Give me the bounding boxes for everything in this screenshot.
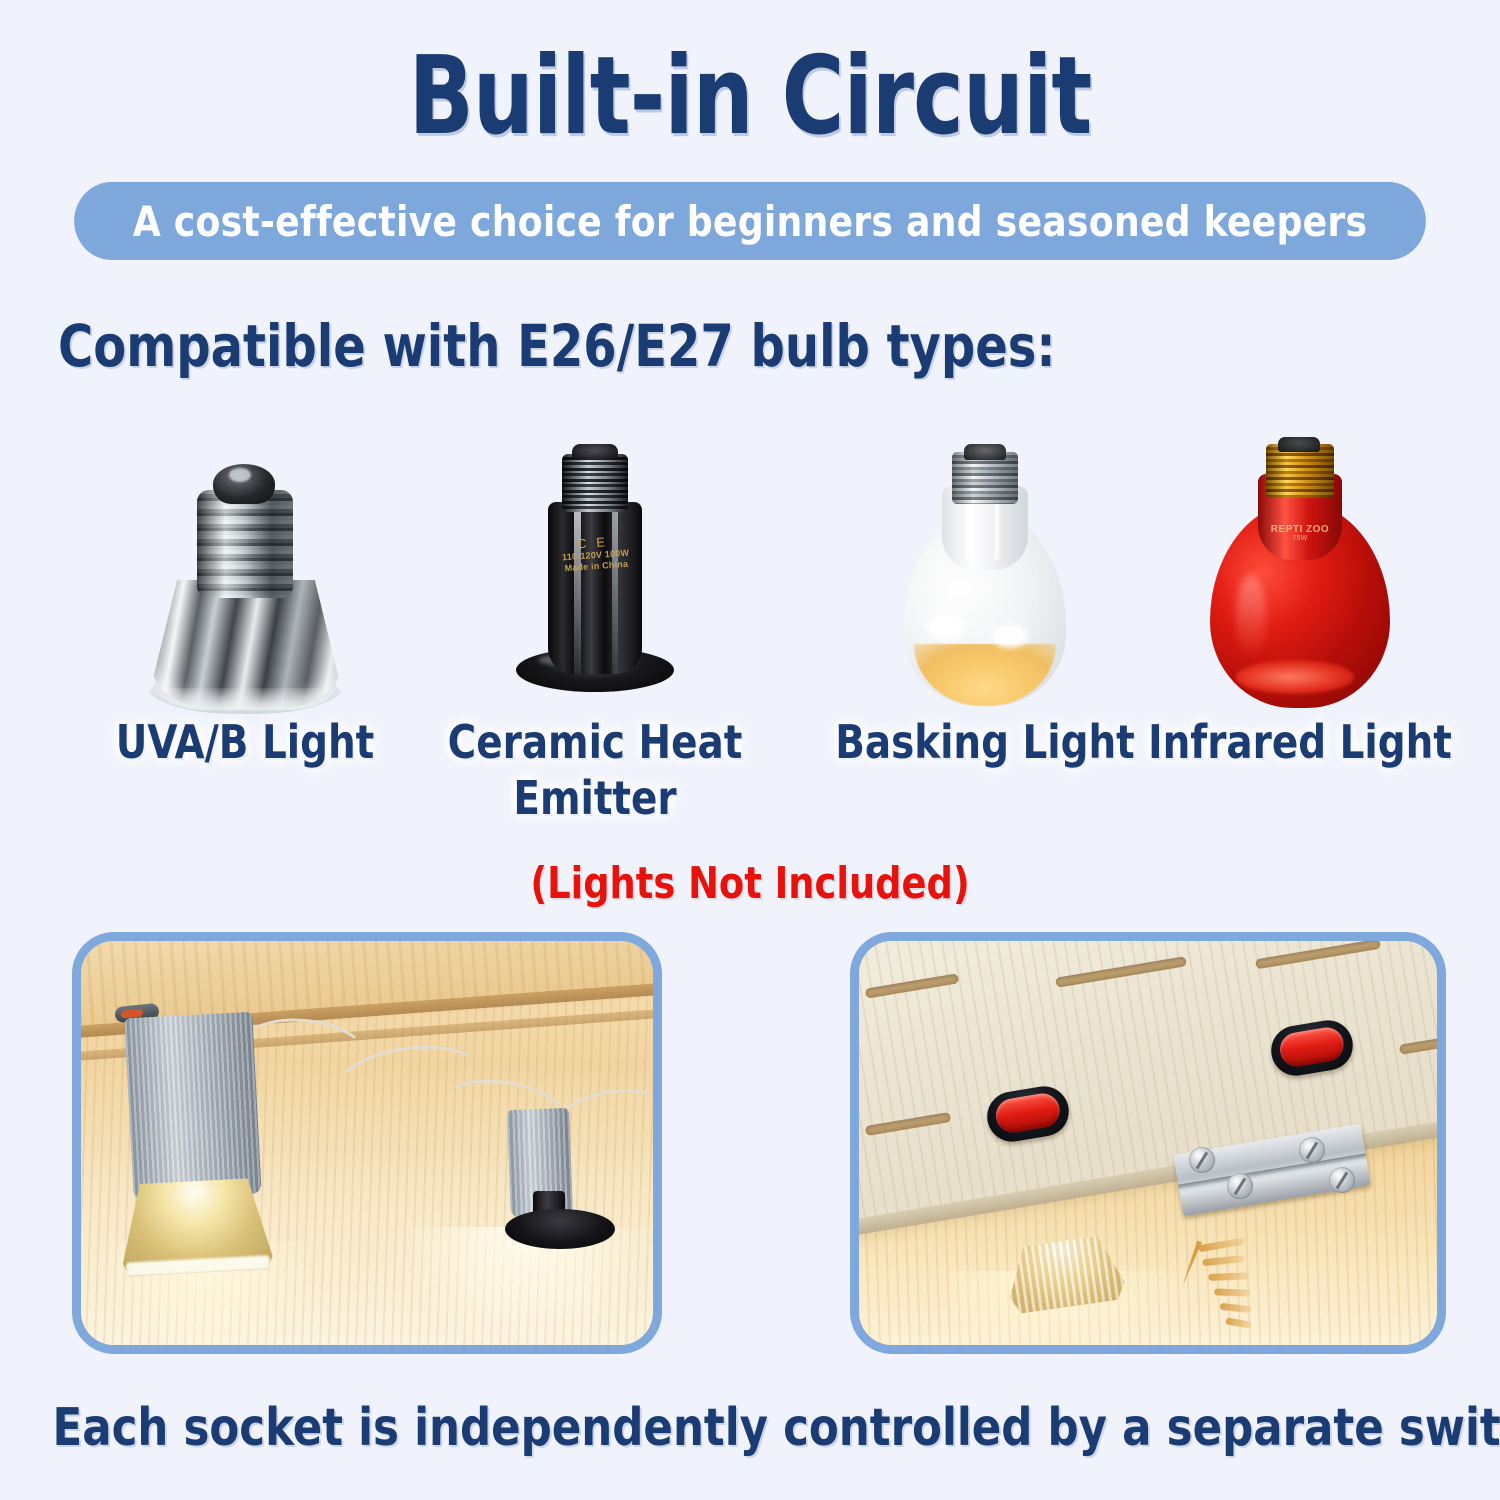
basking-light-bulb-icon	[890, 438, 1080, 710]
ir-brand-name: REPTI ZOO	[1271, 524, 1329, 535]
subtitle-banner: A cost-effective choice for beginners an…	[46, 182, 1454, 260]
bulb-gallery: CE 110-120V 100W Made in China	[0, 410, 1500, 710]
bulb-label-ceramic: Ceramic Heat Emitter	[435, 714, 755, 826]
photo-right-scene	[859, 941, 1437, 1345]
bulb-item-infrared-light: REPTI ZOO 75W	[1130, 410, 1470, 710]
lit-halogen-bulb	[119, 1177, 274, 1277]
sockets-under-enclosure-photo	[72, 932, 662, 1354]
bulb-label-basking: Basking Light	[825, 714, 1145, 770]
lights-not-included-notice: (Lights Not Included)	[53, 858, 1448, 909]
photo-left-scene	[81, 941, 653, 1345]
bulb-item-ceramic-heat-emitter: CE 110-120V 100W Made in China	[425, 410, 765, 710]
ceramic-emitter-in-socket	[505, 1209, 615, 1249]
infrared-light-bulb-icon: REPTI ZOO 75W	[1200, 434, 1400, 710]
bulb-label-row: UVA/B Light Ceramic Heat Emitter Basking…	[0, 714, 1500, 844]
bulb-label-uva-b: UVA/B Light	[85, 714, 405, 770]
footer-caption: Each socket is independently controlled …	[53, 1398, 1448, 1458]
compatibility-heading: Compatible with E26/E27 bulb types:	[58, 312, 1056, 380]
bulb-item-uva-b	[75, 410, 415, 710]
lid-switches-photo	[850, 932, 1446, 1354]
ir-brand-watt: 75W	[1248, 535, 1352, 542]
uva-b-reflector-bulb-icon	[145, 435, 345, 710]
ceramic-heat-emitter-icon: CE 110-120V 100W Made in China	[490, 442, 700, 710]
bulb-item-basking-light	[815, 410, 1155, 710]
infographic-page: Built-in Circuit A cost-effective choice…	[0, 0, 1500, 1500]
lamp-socket-left	[124, 1012, 261, 1200]
page-title: Built-in Circuit	[90, 34, 1410, 159]
bulb-label-infrared: Infrared Light	[1140, 714, 1460, 770]
subtitle-text: A cost-effective choice for beginners an…	[74, 182, 1426, 260]
